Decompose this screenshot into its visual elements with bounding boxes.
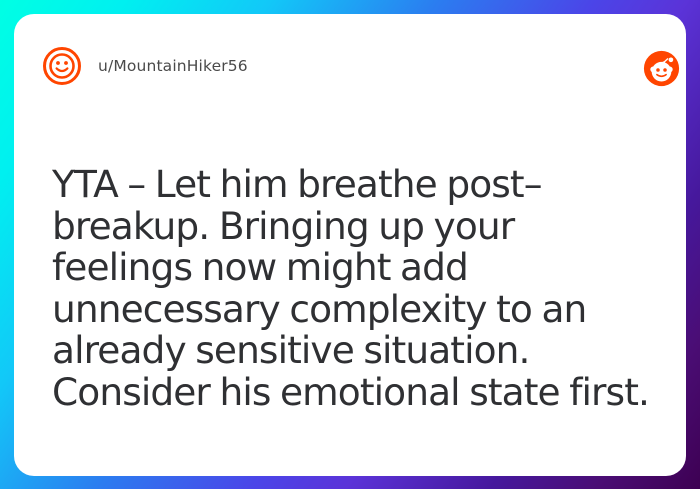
reddit-snoo-logo-icon (643, 50, 680, 87)
card-header: u/MountainHiker56 (14, 14, 686, 106)
smiley-face-avatar-icon[interactable] (42, 46, 82, 86)
username-label: u/MountainHiker56 (98, 57, 248, 75)
screenshot-stage: u/MountainHiker56 YTA – Let him breathe … (0, 0, 700, 489)
reddit-comment-card: u/MountainHiker56 YTA – Let him breathe … (14, 14, 686, 476)
comment-body-text: YTA – Let him breathe post–breakup. Brin… (52, 164, 652, 413)
